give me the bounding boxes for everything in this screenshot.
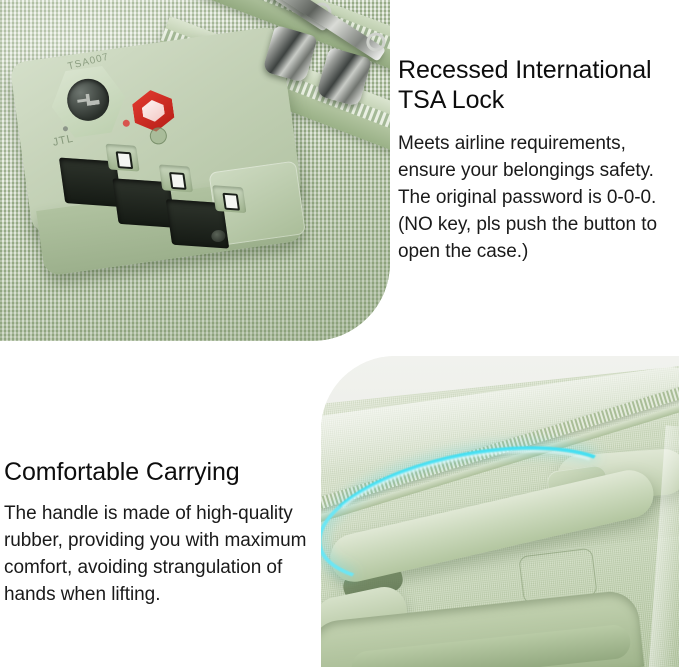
carry-handle-heading: Comfortable Carrying xyxy=(4,458,320,488)
carry-handle-photo xyxy=(321,356,679,667)
dial-notch-3 xyxy=(212,185,246,213)
dial-notch-2 xyxy=(159,164,193,192)
tsa-lock-heading: Recessed International TSA Lock xyxy=(398,56,674,116)
carry-handle-text-block: Comfortable Carrying The handle is made … xyxy=(4,458,320,608)
tsa-diamond-logo-icon xyxy=(131,87,176,134)
tsa-lock-description: Meets airline requirements, ensure your … xyxy=(398,130,674,266)
tsa-lock-photo: TSA007 JTL xyxy=(0,0,390,341)
feature-panel: TSA007 JTL Recessed International TS xyxy=(0,0,679,667)
dial-notch-1 xyxy=(105,144,139,172)
tsa-lock-text-block: Recessed International TSA Lock Meets ai… xyxy=(398,56,674,265)
carry-handle-description: The handle is made of high-quality rubbe… xyxy=(4,500,320,609)
